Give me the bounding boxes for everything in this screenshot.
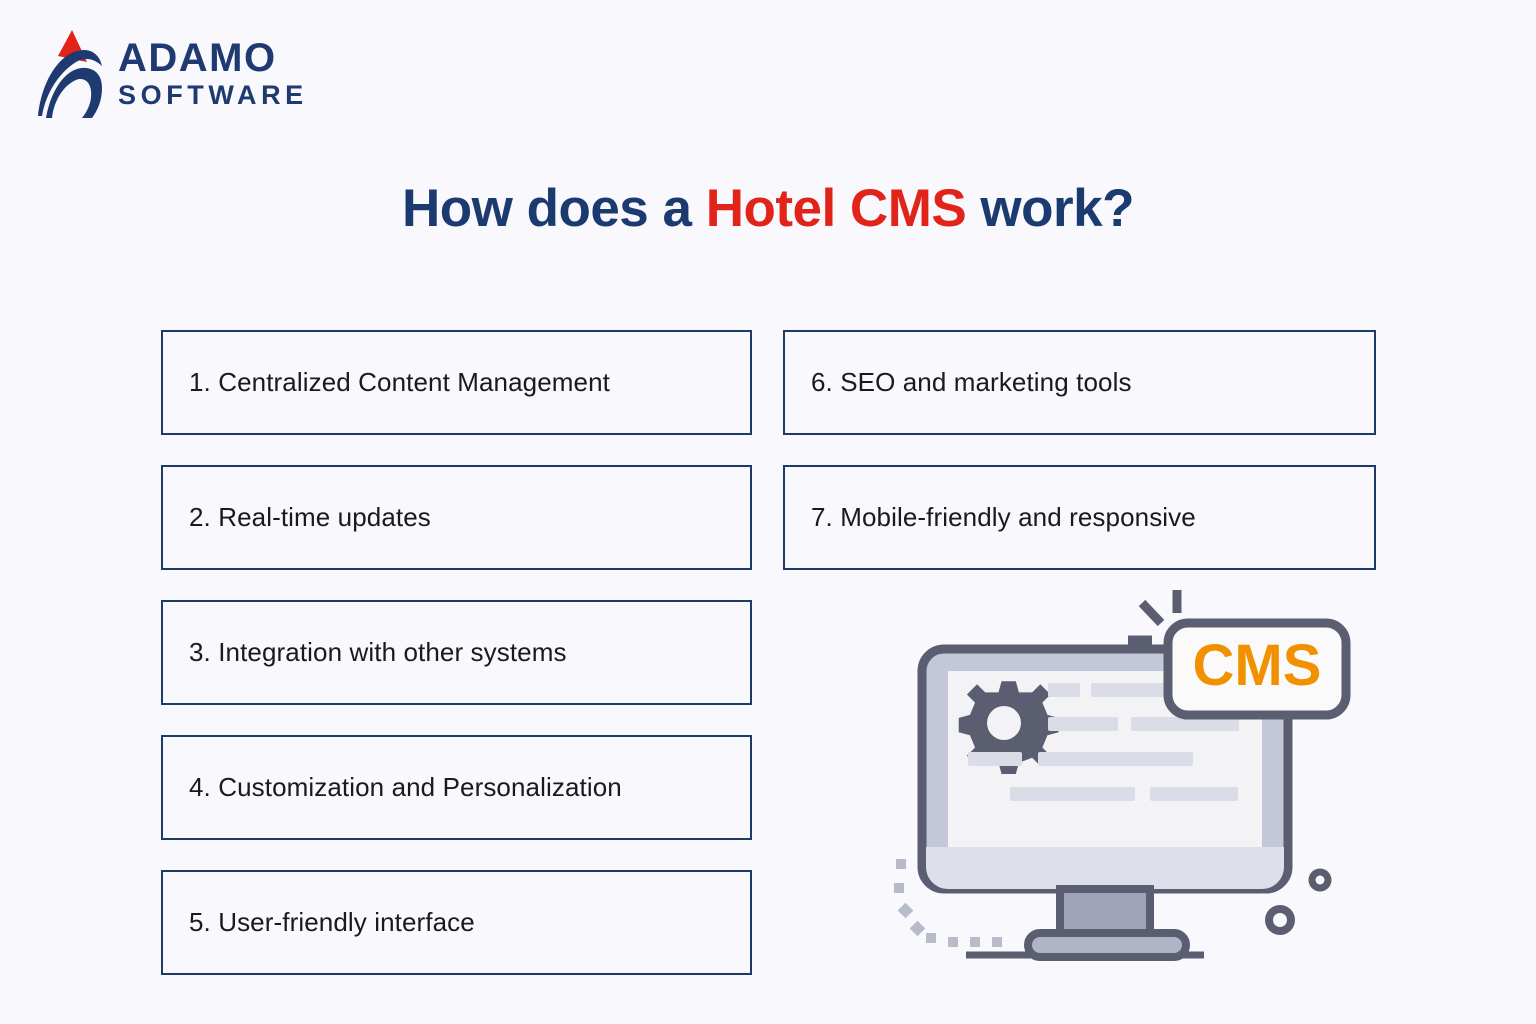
list-item-label: 2. Real-time updates: [189, 502, 431, 533]
brand-wordmark: ADAMO SOFTWARE: [118, 38, 308, 109]
cms-badge: CMS: [1168, 623, 1346, 715]
list-item-label: 1. Centralized Content Management: [189, 367, 610, 398]
monitor-bottom-band: [926, 847, 1284, 889]
list-item[interactable]: 1. Centralized Content Management: [161, 330, 752, 435]
cms-monitor-illustration: CMS: [880, 575, 1360, 995]
list-item-label: 7. Mobile-friendly and responsive: [811, 502, 1196, 533]
ring-large-icon: [1269, 909, 1291, 931]
list-item[interactable]: 7. Mobile-friendly and responsive: [783, 465, 1376, 570]
title-part-1: How does a: [402, 179, 706, 238]
monitor-stand-base: [1028, 933, 1186, 957]
feature-list-left: 1. Centralized Content Management 2. Rea…: [161, 330, 752, 1005]
list-item[interactable]: 4. Customization and Personalization: [161, 735, 752, 840]
brand-name-primary: ADAMO: [118, 38, 308, 78]
title-highlight: Hotel CMS: [706, 179, 967, 238]
list-item[interactable]: 6. SEO and marketing tools: [783, 330, 1376, 435]
feature-list-right: 6. SEO and marketing tools 7. Mobile-fri…: [783, 330, 1376, 600]
page-title: How does a Hotel CMS work?: [0, 178, 1536, 239]
cms-illustration-svg: CMS: [880, 575, 1360, 995]
list-item-label: 4. Customization and Personalization: [189, 772, 622, 803]
ring-small-icon: [1312, 872, 1328, 888]
brand-name-secondary: SOFTWARE: [118, 82, 308, 109]
list-item[interactable]: 3. Integration with other systems: [161, 600, 752, 705]
title-part-2: work?: [966, 179, 1134, 238]
list-item[interactable]: 2. Real-time updates: [161, 465, 752, 570]
list-item-label: 3. Integration with other systems: [189, 637, 567, 668]
list-item-label: 5. User-friendly interface: [189, 907, 475, 938]
sparkle-diagonal-icon: [1142, 603, 1161, 623]
infographic-page: ADAMO SOFTWARE How does a Hotel CMS work…: [0, 0, 1536, 1024]
brand-logo: ADAMO SOFTWARE: [32, 26, 308, 120]
list-item-label: 6. SEO and marketing tools: [811, 367, 1132, 398]
list-item[interactable]: 5. User-friendly interface: [161, 870, 752, 975]
cms-badge-label: CMS: [1193, 633, 1322, 698]
adamo-logo-mark: [32, 26, 104, 120]
